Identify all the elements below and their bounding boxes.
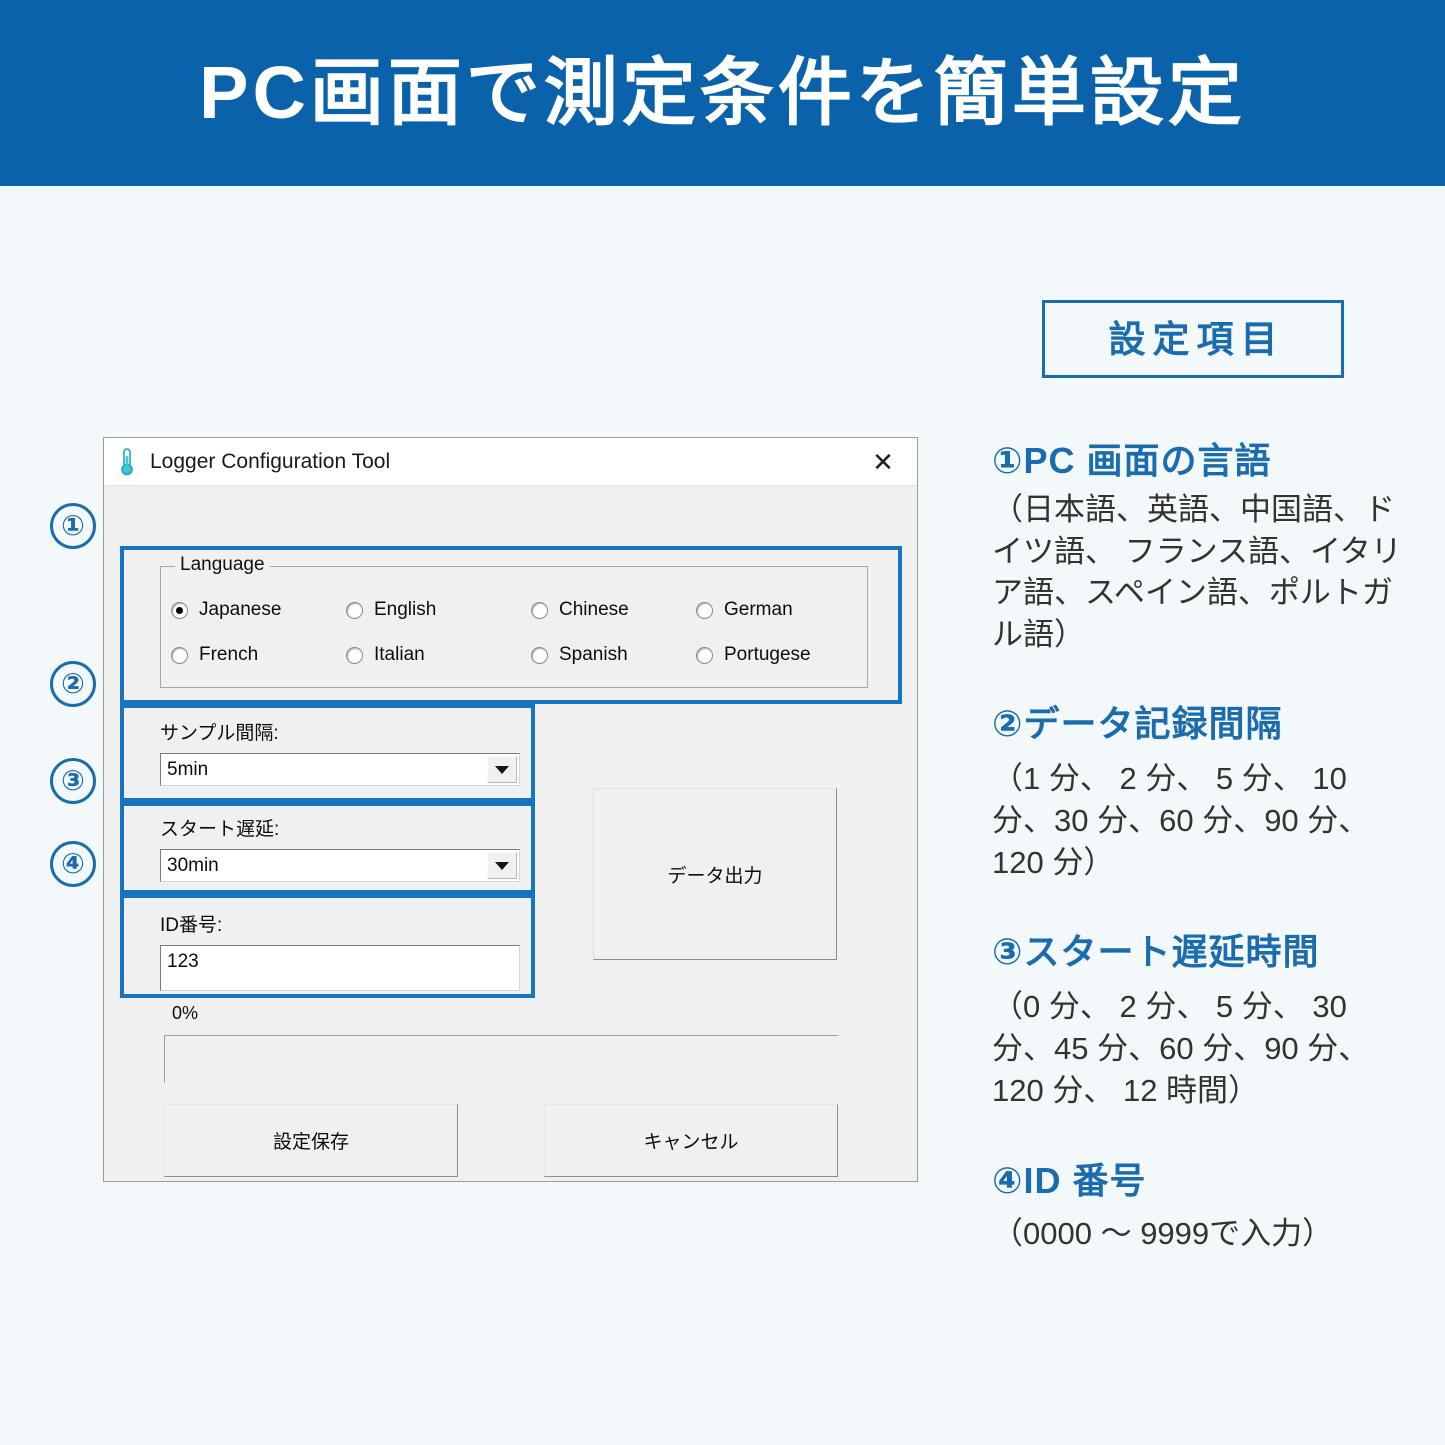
legend-item-2: ②データ記録間隔 （1 分、 2 分、 5 分、 10 分、30 分、60 分、… bbox=[992, 701, 1412, 884]
id-number-label: ID番号: bbox=[160, 910, 520, 937]
radio-dot-icon[interactable] bbox=[531, 647, 548, 664]
cancel-button[interactable]: キャンセル bbox=[544, 1104, 838, 1177]
legend-item-1-desc: （日本語、英語、中国語、ドイツ語、 フランス語、イタリア語、スペイン語、ポルトガ… bbox=[992, 489, 1412, 655]
radio-dot-icon[interactable] bbox=[531, 602, 548, 619]
radio-dot-icon[interactable] bbox=[346, 647, 363, 664]
radio-label: English bbox=[374, 599, 436, 621]
settings-badge-label: 設定項目 bbox=[1102, 321, 1285, 358]
legend-item-3-desc: （0 分、 2 分、 5 分、 30 分、45 分、60 分、90 分、120 … bbox=[992, 986, 1412, 1112]
radio-label: Chinese bbox=[559, 599, 629, 621]
dialog-title: Logger Configuration Tool bbox=[150, 450, 390, 474]
radio-label: Spanish bbox=[559, 644, 628, 666]
dialog-titlebar: Logger Configuration Tool ✕ bbox=[104, 438, 917, 486]
radio-label: Italian bbox=[374, 644, 425, 666]
radio-dot-icon[interactable] bbox=[696, 602, 713, 619]
save-settings-button[interactable]: 設定保存 bbox=[164, 1104, 458, 1177]
radio-german[interactable]: German bbox=[696, 599, 861, 621]
legend-item-4: ④ID 番号 （0000 〜 9999で入力） bbox=[992, 1158, 1412, 1255]
language-radio-row-2: French Italian Spanish Portugese bbox=[171, 644, 861, 666]
legend-item-4-desc: （0000 〜 9999で入力） bbox=[992, 1213, 1412, 1255]
legend-item-1-title: ①PC 画面の言語 bbox=[992, 438, 1412, 483]
thermometer-icon bbox=[116, 447, 138, 477]
marker-number-3: ③ bbox=[50, 758, 96, 804]
radio-label: Portugese bbox=[724, 644, 811, 666]
radio-label: French bbox=[199, 644, 258, 666]
marker-number-1: ① bbox=[50, 503, 96, 549]
header-banner: PC画面で測定条件を簡単設定 bbox=[0, 0, 1445, 186]
sample-interval-value: 5min bbox=[161, 759, 208, 781]
radio-french[interactable]: French bbox=[171, 644, 346, 666]
radio-dot-icon[interactable] bbox=[171, 602, 188, 619]
marker-number-2: ② bbox=[50, 661, 96, 707]
language-radio-row-1: Japanese English Chinese German bbox=[171, 599, 861, 621]
legend-item-4-title: ④ID 番号 bbox=[992, 1158, 1412, 1203]
radio-chinese[interactable]: Chinese bbox=[531, 599, 696, 621]
radio-japanese[interactable]: Japanese bbox=[171, 599, 346, 621]
data-output-button[interactable]: データ出力 bbox=[593, 788, 837, 960]
sample-interval-label: サンプル間隔: bbox=[160, 718, 520, 745]
legend-item-3: ③スタート遅延時間 （0 分、 2 分、 5 分、 30 分、45 分、60 分… bbox=[992, 929, 1412, 1112]
sample-interval-dropdown[interactable]: 5min bbox=[160, 753, 520, 786]
marker-number-4: ④ bbox=[50, 841, 96, 887]
close-icon[interactable]: ✕ bbox=[861, 444, 905, 480]
legend-item-3-title: ③スタート遅延時間 bbox=[992, 929, 1412, 974]
start-delay-field: スタート遅延: 30min bbox=[160, 814, 520, 882]
page-title: PC画面で測定条件を簡単設定 bbox=[199, 56, 1246, 130]
radio-portugese[interactable]: Portugese bbox=[696, 644, 861, 666]
legend-item-2-title: ②データ記録間隔 bbox=[992, 701, 1412, 746]
settings-legend-panel: 設定項目 ①PC 画面の言語 （日本語、英語、中国語、ドイツ語、 フランス語、イ… bbox=[992, 300, 1412, 1285]
chevron-down-icon[interactable] bbox=[487, 756, 517, 783]
radio-dot-icon[interactable] bbox=[696, 647, 713, 664]
radio-italian[interactable]: Italian bbox=[346, 644, 531, 666]
progress-percent-label: 0% bbox=[172, 1003, 198, 1024]
settings-badge: 設定項目 bbox=[1042, 300, 1344, 378]
radio-dot-icon[interactable] bbox=[346, 602, 363, 619]
radio-dot-icon[interactable] bbox=[171, 647, 188, 664]
start-delay-dropdown[interactable]: 30min bbox=[160, 849, 520, 882]
dialog-body: Language Japanese English Chinese German bbox=[104, 486, 917, 1181]
language-fieldset: Language Japanese English Chinese German bbox=[160, 566, 868, 688]
progress-bar bbox=[164, 1035, 839, 1083]
language-legend: Language bbox=[175, 554, 270, 576]
id-number-input[interactable]: 123 bbox=[160, 945, 520, 991]
legend-item-1: ①PC 画面の言語 （日本語、英語、中国語、ドイツ語、 フランス語、イタリア語、… bbox=[992, 438, 1412, 655]
radio-spanish[interactable]: Spanish bbox=[531, 644, 696, 666]
start-delay-label: スタート遅延: bbox=[160, 814, 520, 841]
radio-english[interactable]: English bbox=[346, 599, 531, 621]
logger-configuration-dialog: Logger Configuration Tool ✕ Language Jap… bbox=[103, 437, 918, 1182]
radio-label: German bbox=[724, 599, 793, 621]
sample-interval-field: サンプル間隔: 5min bbox=[160, 718, 520, 786]
id-number-field: ID番号: 123 bbox=[160, 910, 520, 991]
chevron-down-icon[interactable] bbox=[487, 852, 517, 879]
start-delay-value: 30min bbox=[161, 855, 219, 877]
id-number-value: 123 bbox=[167, 951, 199, 973]
legend-item-2-desc: （1 分、 2 分、 5 分、 10 分、30 分、60 分、90 分、120 … bbox=[992, 758, 1412, 884]
radio-label: Japanese bbox=[199, 599, 281, 621]
